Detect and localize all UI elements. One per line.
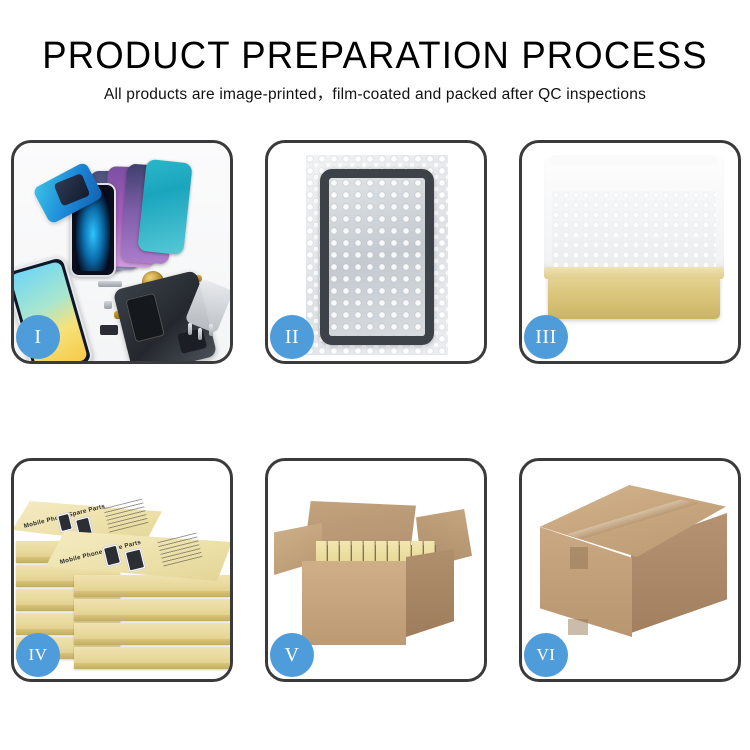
screw-2 [198, 328, 202, 340]
step-badge-3: III [524, 315, 568, 359]
screw-1 [188, 323, 192, 335]
process-step-grid: I II III [11, 140, 740, 682]
page-subtitle: All products are image-printed，film-coat… [0, 85, 750, 105]
screw-3 [209, 324, 213, 336]
product-preparation-infographic: PRODUCT PREPARATION PROCESS All products… [0, 0, 750, 750]
process-step-panel-3: III [519, 140, 741, 364]
process-step-panel-5: V [265, 458, 487, 682]
part-screw-head [104, 301, 112, 309]
inner-box-tray [548, 273, 720, 319]
step-badge-1: I [16, 315, 60, 359]
part-speaker [100, 325, 118, 335]
stack-box-r3 [74, 623, 230, 645]
carton-seam-tab-1 [570, 547, 588, 569]
inner-box-foam [552, 191, 716, 277]
header: PRODUCT PREPARATION PROCESS All products… [0, 0, 750, 105]
part-connector [98, 281, 122, 287]
screws-group [186, 323, 220, 347]
stack-box-r2 [74, 599, 230, 621]
step-badge-4: IV [16, 633, 60, 677]
step-badge-5: V [270, 633, 314, 677]
process-step-panel-1: I [11, 140, 233, 364]
carton-front-panel [302, 561, 406, 645]
step-badge-2: II [270, 315, 314, 359]
screen-surface [329, 178, 425, 336]
step-badge-6: VI [524, 633, 568, 677]
wrapped-screen-icon [320, 169, 434, 345]
phone-fan-1-icon [137, 159, 192, 255]
process-step-panel-4: Mobile Phone Spare Parts Mobile Phone Sp… [11, 458, 233, 682]
process-step-panel-6: VI [519, 458, 741, 682]
page-title: PRODUCT PREPARATION PROCESS [15, 36, 735, 76]
carton-seam-tab-2 [568, 619, 588, 635]
process-step-panel-2: II [265, 140, 487, 364]
stack-box-r4 [74, 647, 230, 669]
carton-side-panel [406, 549, 454, 637]
